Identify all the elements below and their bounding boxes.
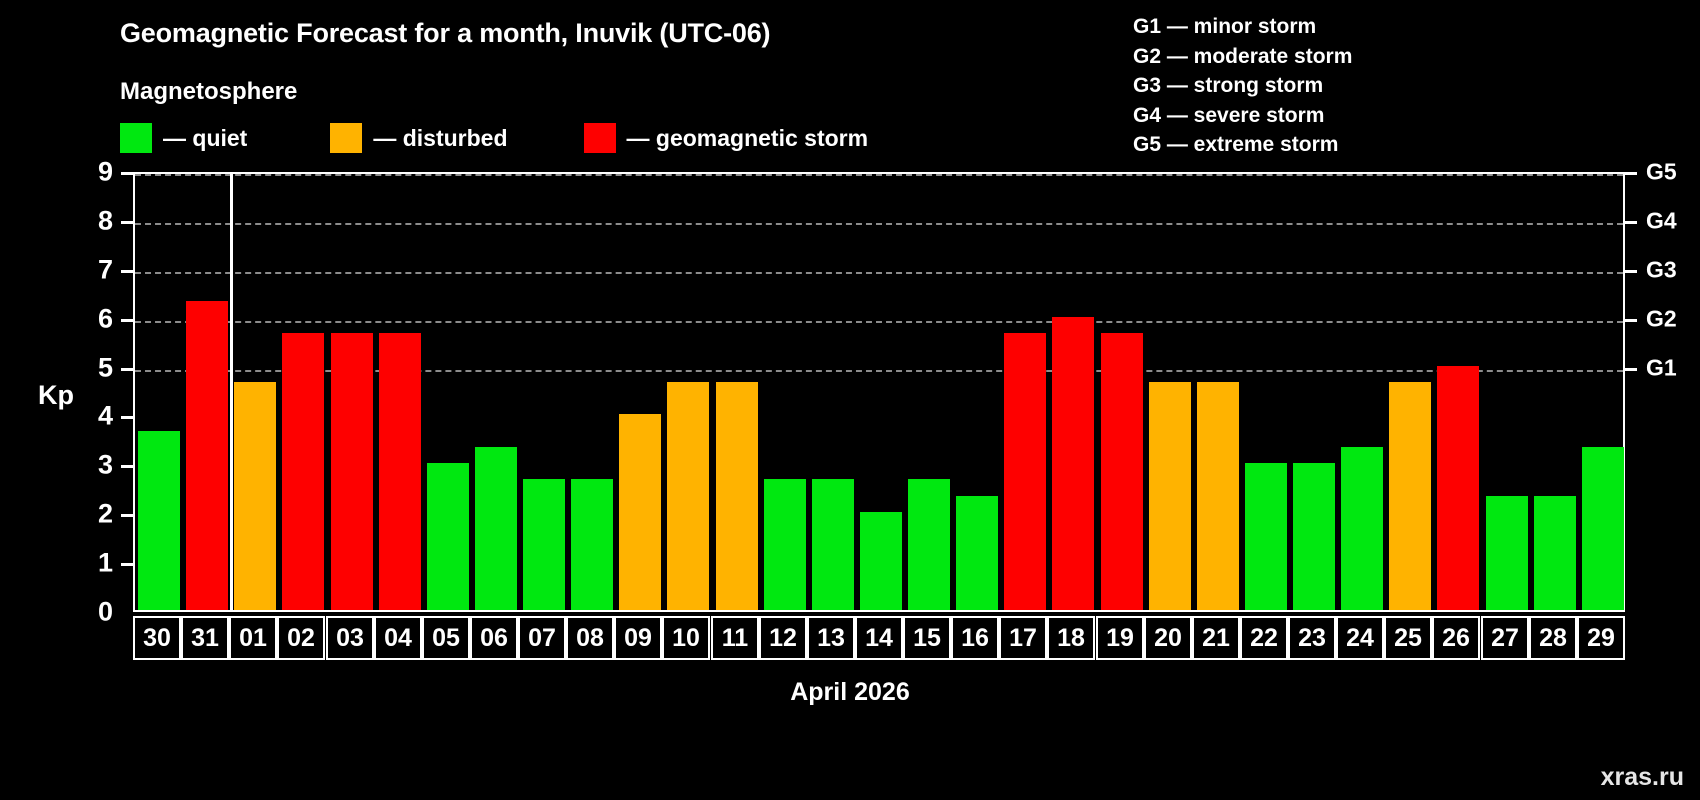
bar-day-03[interactable] — [331, 333, 373, 610]
legend-swatch-disturbed-icon — [330, 123, 362, 153]
x-axis-title: April 2026 — [0, 678, 1700, 707]
g-scale-line-g3: G3 — strong storm — [1133, 71, 1352, 101]
day-label-12[interactable]: 12 — [759, 616, 807, 660]
day-label-08[interactable]: 08 — [566, 616, 614, 660]
y-tick-label-9: 9 — [73, 157, 113, 188]
y-tick-mark-4 — [121, 416, 133, 419]
bar-day-20[interactable] — [1149, 382, 1191, 610]
legend-item-quiet: — quiet — [120, 122, 247, 154]
y-tick-label-2: 2 — [73, 499, 113, 530]
geomagnetic-forecast-chart: Geomagnetic Forecast for a month, Inuvik… — [0, 0, 1700, 800]
g-tick-label-g1: G1 — [1646, 354, 1677, 381]
bar-day-18[interactable] — [1052, 317, 1094, 610]
day-label-19[interactable]: 19 — [1096, 616, 1144, 660]
forecast-start-separator — [230, 174, 233, 610]
g-tick-mark-g3 — [1625, 270, 1637, 273]
bar-day-23[interactable] — [1293, 463, 1335, 610]
bar-day-01[interactable] — [234, 382, 276, 610]
legend-label-storm: — geomagnetic storm — [627, 125, 869, 152]
day-label-30[interactable]: 30 — [133, 616, 181, 660]
day-label-27[interactable]: 27 — [1481, 616, 1529, 660]
bar-day-21[interactable] — [1197, 382, 1239, 610]
y-tick-label-8: 8 — [73, 205, 113, 236]
day-label-25[interactable]: 25 — [1384, 616, 1432, 660]
y-tick-mark-8 — [121, 221, 133, 224]
day-label-18[interactable]: 18 — [1047, 616, 1095, 660]
bar-day-16[interactable] — [956, 496, 998, 610]
bar-day-31[interactable] — [186, 301, 228, 610]
g-scale-line-g2: G2 — moderate storm — [1133, 42, 1352, 72]
y-tick-label-4: 4 — [73, 401, 113, 432]
bar-day-02[interactable] — [282, 333, 324, 610]
y-tick-mark-1 — [121, 563, 133, 566]
plot-area — [133, 172, 1625, 612]
day-label-14[interactable]: 14 — [855, 616, 903, 660]
g-tick-label-g4: G4 — [1646, 207, 1677, 234]
g-scale-line-g5: G5 — extreme storm — [1133, 130, 1352, 160]
y-tick-mark-9 — [121, 172, 133, 175]
y-tick-mark-5 — [121, 368, 133, 371]
y-tick-label-7: 7 — [73, 254, 113, 285]
y-tick-mark-7 — [121, 270, 133, 273]
g-tick-mark-g1 — [1625, 368, 1637, 371]
g-tick-mark-g4 — [1625, 221, 1637, 224]
bar-day-17[interactable] — [1004, 333, 1046, 610]
g-tick-label-g5: G5 — [1646, 159, 1677, 186]
y-tick-mark-3 — [121, 465, 133, 468]
y-tick-label-0: 0 — [73, 597, 113, 628]
x-axis-day-labels: 3031010203040506070809101112131415161718… — [133, 616, 1625, 660]
g-tick-label-g3: G3 — [1646, 256, 1677, 283]
bar-day-29[interactable] — [1582, 447, 1624, 610]
day-label-13[interactable]: 13 — [807, 616, 855, 660]
day-label-11[interactable]: 11 — [711, 616, 759, 660]
watermark: xras.ru — [1601, 763, 1684, 792]
bar-day-19[interactable] — [1101, 333, 1143, 610]
day-label-20[interactable]: 20 — [1144, 616, 1192, 660]
g-scale-line-g4: G4 — severe storm — [1133, 101, 1352, 131]
bar-day-25[interactable] — [1389, 382, 1431, 610]
legend-label-quiet: — quiet — [163, 125, 247, 152]
legend-item-storm: — geomagnetic storm — [584, 122, 869, 154]
day-label-28[interactable]: 28 — [1529, 616, 1577, 660]
y-tick-label-1: 1 — [73, 548, 113, 579]
bar-day-11[interactable] — [716, 382, 758, 610]
legend-item-disturbed: — disturbed — [330, 122, 507, 154]
day-label-16[interactable]: 16 — [951, 616, 999, 660]
day-label-31[interactable]: 31 — [181, 616, 229, 660]
y-axis-title: Kp — [38, 380, 74, 411]
bar-day-09[interactable] — [619, 414, 661, 610]
legend-label-disturbed: — disturbed — [373, 125, 507, 152]
day-label-24[interactable]: 24 — [1336, 616, 1384, 660]
day-label-22[interactable]: 22 — [1240, 616, 1288, 660]
g-scale-legend: G1 — minor storm G2 — moderate storm G3 … — [1133, 12, 1352, 160]
bar-day-05[interactable] — [427, 463, 469, 610]
day-label-17[interactable]: 17 — [999, 616, 1047, 660]
bar-day-27[interactable] — [1486, 496, 1528, 610]
y-tick-label-5: 5 — [73, 352, 113, 383]
bar-day-24[interactable] — [1341, 447, 1383, 610]
y-tick-mark-6 — [121, 319, 133, 322]
g-tick-mark-g5 — [1625, 172, 1637, 175]
y-tick-mark-2 — [121, 514, 133, 517]
day-label-07[interactable]: 07 — [518, 616, 566, 660]
legend-swatch-quiet-icon — [120, 123, 152, 153]
y-tick-label-6: 6 — [73, 303, 113, 334]
day-label-06[interactable]: 06 — [470, 616, 518, 660]
legend-heading: Magnetosphere — [120, 78, 297, 106]
magnetosphere-legend: — quiet — disturbed — geomagnetic storm — [120, 122, 868, 154]
bar-day-04[interactable] — [379, 333, 421, 610]
g-tick-mark-g2 — [1625, 319, 1637, 322]
bar-day-07[interactable] — [523, 479, 565, 610]
bar-day-15[interactable] — [908, 479, 950, 610]
day-label-15[interactable]: 15 — [903, 616, 951, 660]
day-label-04[interactable]: 04 — [374, 616, 422, 660]
y-tick-label-3: 3 — [73, 450, 113, 481]
bar-day-30[interactable] — [138, 431, 180, 610]
day-label-05[interactable]: 05 — [422, 616, 470, 660]
day-label-01[interactable]: 01 — [229, 616, 277, 660]
bar-day-14[interactable] — [860, 512, 902, 610]
bar-day-06[interactable] — [475, 447, 517, 610]
day-label-26[interactable]: 26 — [1432, 616, 1480, 660]
bar-day-10[interactable] — [667, 382, 709, 610]
bar-day-22[interactable] — [1245, 463, 1287, 610]
bar-day-28[interactable] — [1534, 496, 1576, 610]
g-scale-line-g1: G1 — minor storm — [1133, 12, 1352, 42]
day-label-02[interactable]: 02 — [277, 616, 325, 660]
bar-day-08[interactable] — [571, 479, 613, 610]
day-label-21[interactable]: 21 — [1192, 616, 1240, 660]
page-title: Geomagnetic Forecast for a month, Inuvik… — [120, 18, 770, 49]
bar-day-13[interactable] — [812, 479, 854, 610]
bar-day-26[interactable] — [1437, 366, 1479, 610]
bars-layer — [135, 174, 1623, 610]
g-tick-label-g2: G2 — [1646, 305, 1677, 332]
bar-day-12[interactable] — [764, 479, 806, 610]
day-label-03[interactable]: 03 — [326, 616, 374, 660]
legend-swatch-storm-icon — [584, 123, 616, 153]
day-label-09[interactable]: 09 — [614, 616, 662, 660]
day-label-29[interactable]: 29 — [1577, 616, 1625, 660]
day-label-23[interactable]: 23 — [1288, 616, 1336, 660]
day-label-10[interactable]: 10 — [662, 616, 710, 660]
